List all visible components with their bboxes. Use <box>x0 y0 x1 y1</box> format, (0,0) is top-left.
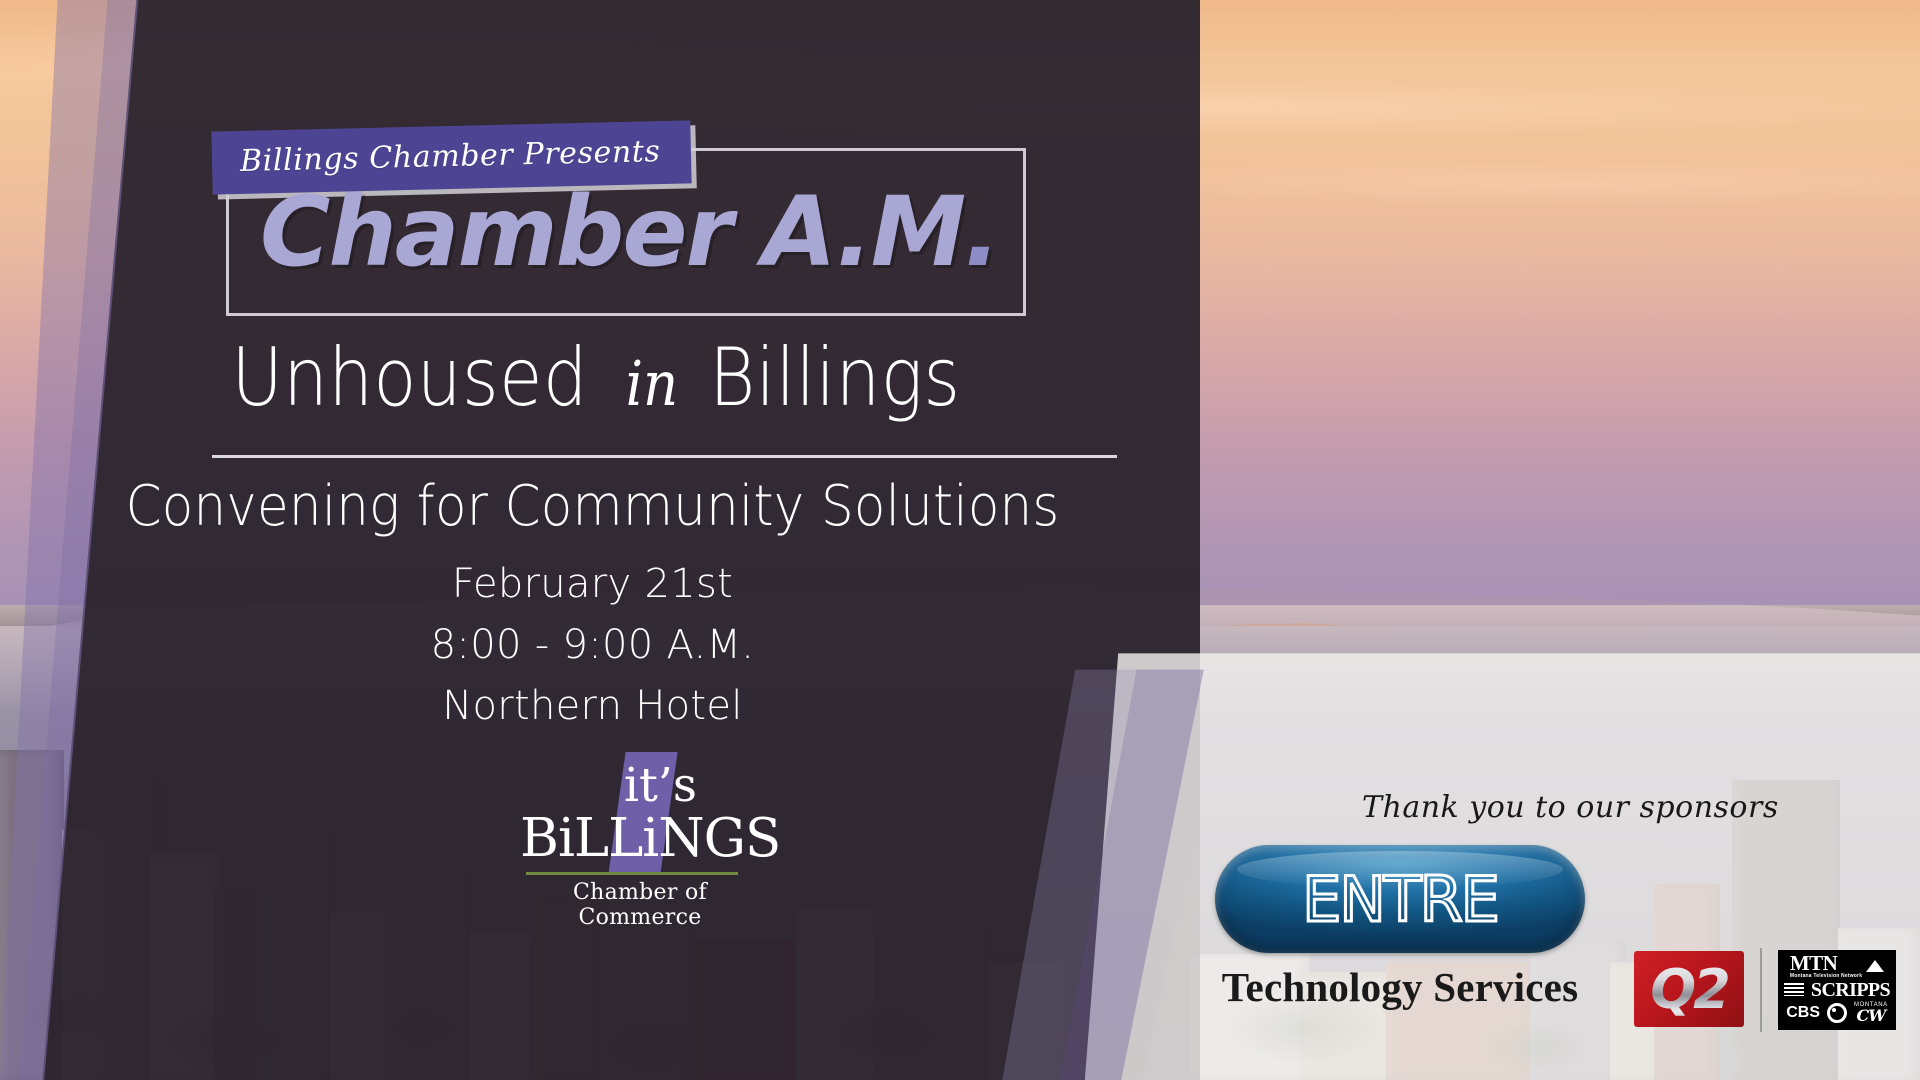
sponsors-thank-you-text: Thank you to our sponsors <box>1362 790 1779 825</box>
headline-word-in: in <box>617 353 687 415</box>
logo-its-text: it’s <box>624 762 697 809</box>
chamber-am-lockup: Billings Chamber Presents Chamber A.M. <box>212 126 1032 322</box>
logo-billings-text: BiLLiNGS <box>520 812 760 865</box>
cw-wordmark: CW <box>1857 1006 1886 1025</box>
sponsor-logo-entre: ENTRE Technology Services <box>1200 845 1600 1011</box>
mtn-network-row: MTNMontana Television Network <box>1783 954 1891 978</box>
entre-wordmark: ENTRE <box>1215 845 1585 953</box>
event-wordmark: Chamber A.M. <box>260 184 999 280</box>
entre-pill-shape: ENTRE <box>1215 845 1585 953</box>
mountain-peak-icon <box>1866 960 1884 972</box>
wordmark-text: Chamber A.M <box>260 176 964 288</box>
sponsor-logo-mtn-scripps: MTNMontana Television Network SCRIPPS CB… <box>1778 950 1896 1030</box>
kicker-text: Billings Chamber Presents <box>240 134 661 179</box>
sponsors-thank-you: Thank you to our sponsors <box>1362 790 1762 825</box>
mtn-wordmark: MTNMontana Television Network <box>1790 953 1862 979</box>
its-billings-chamber-logo: it’s BiLLiNGS Chamber of Commerce <box>520 762 760 902</box>
logo-green-rule <box>526 872 738 875</box>
sponsor-divider <box>1760 948 1762 1032</box>
subtitle-text: Convening for Community Solutions <box>126 474 1060 539</box>
page-title: UnhousedinBillings <box>0 338 1920 418</box>
event-details: February 21st 8:00 - 9:00 A.M. Northern … <box>0 562 1920 746</box>
headline-divider <box>212 455 1117 458</box>
cbs-eye-icon <box>1827 1003 1847 1023</box>
cbs-cw-row: CBS MONTANA CW <box>1783 1002 1891 1026</box>
q2-wordmark: Q2 <box>1634 951 1744 1027</box>
entre-tagline: Technology Services <box>1200 963 1600 1011</box>
logo-tagline: Chamber of Commerce <box>520 880 760 930</box>
event-time: 8:00 - 9:00 A.M. <box>0 623 1185 668</box>
cbs-wordmark: CBS <box>1786 1004 1820 1022</box>
cw-lockup: MONTANA CW <box>1854 1002 1888 1025</box>
headline-word-billings: Billings <box>709 338 960 418</box>
page-subtitle: Convening for Community Solutions <box>0 474 1920 539</box>
poster-content: Billings Chamber Presents Chamber A.M. U… <box>0 0 1920 1080</box>
event-date: February 21st <box>0 562 1185 607</box>
event-venue: Northern Hotel <box>0 684 1185 729</box>
scripps-wordmark: SCRIPPS <box>1811 980 1890 1000</box>
scripps-lighthouse-icon <box>1784 983 1804 996</box>
sponsor-logo-q2: Q2 <box>1634 951 1744 1027</box>
headline-word-unhoused: Unhoused <box>231 338 588 418</box>
event-poster: Billings Chamber Presents Chamber A.M. U… <box>0 0 1920 1080</box>
scripps-row: SCRIPPS <box>1783 978 1891 1002</box>
wordmark-period: . <box>964 176 998 288</box>
